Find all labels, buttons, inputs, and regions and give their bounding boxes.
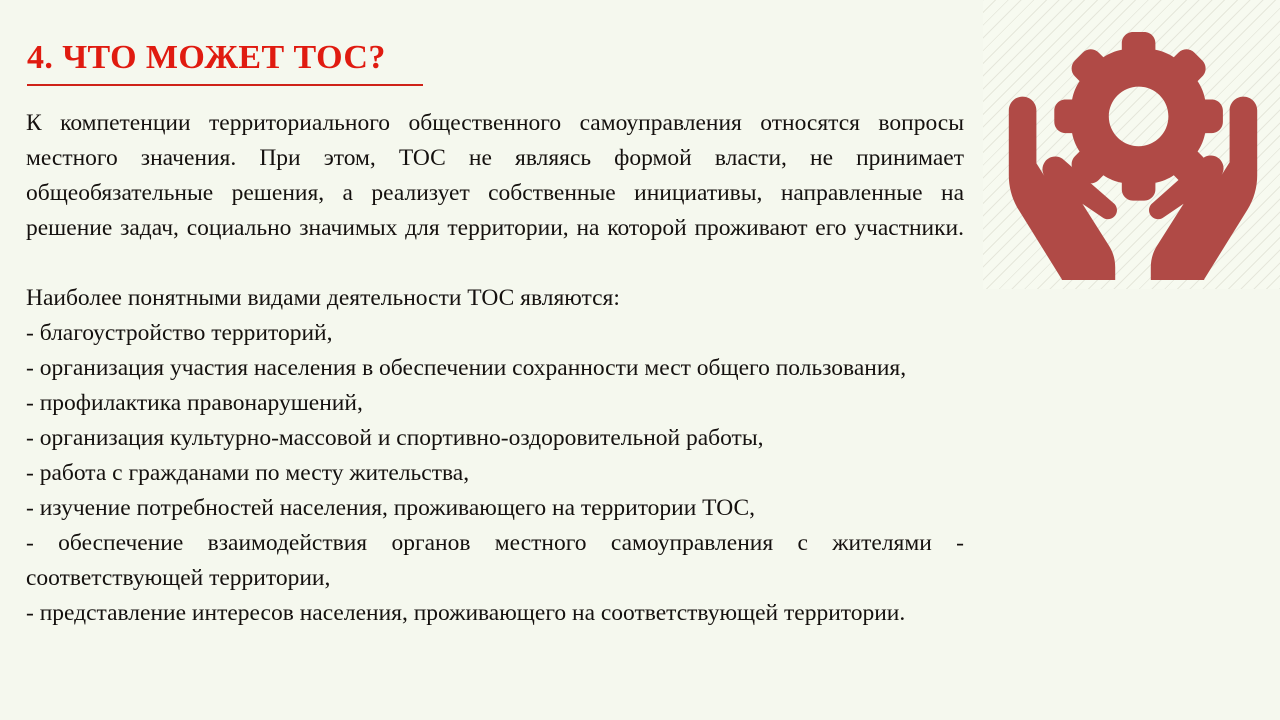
- title-block: 4. ЧТО МОЖЕТ ТОС?: [27, 38, 627, 86]
- slide-canvas: 4. ЧТО МОЖЕТ ТОС? К компетенции территор…: [0, 0, 1280, 720]
- list-item: - благоустройство территорий,: [26, 316, 964, 351]
- list-item: - изучение потребностей населения, прожи…: [26, 491, 964, 526]
- body-content: К компетенции территориального обществен…: [26, 106, 964, 631]
- list-item: - организация культурно-массовой и спорт…: [26, 421, 964, 456]
- lead-in-paragraph: Наиболее понятными видами деятельности Т…: [26, 281, 964, 316]
- list-item: - работа с гражданами по месту жительств…: [26, 456, 964, 491]
- title-underline-rule: [27, 84, 423, 86]
- page-title: 4. ЧТО МОЖЕТ ТОС?: [27, 38, 627, 78]
- list-item: - обеспечение взаимодействия органов мес…: [26, 526, 964, 596]
- activities-list: - благоустройство территорий, - организа…: [26, 316, 964, 631]
- list-item: - представление интересов населения, про…: [26, 596, 964, 631]
- list-item: - профилактика правонарушений,: [26, 386, 964, 421]
- list-item: - организация участия населения в обеспе…: [26, 351, 964, 386]
- intro-paragraph: К компетенции территориального обществен…: [26, 106, 964, 281]
- hands-holding-gear-icon: [1002, 14, 1264, 280]
